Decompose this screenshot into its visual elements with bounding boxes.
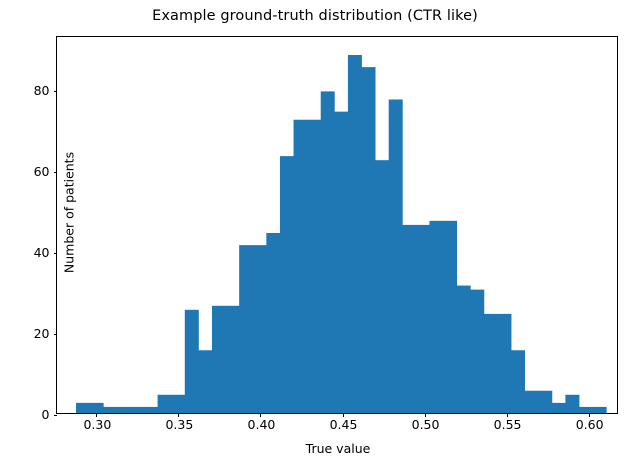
x-tick-label: 0.50 [412,417,440,432]
histogram-bar [579,407,607,413]
y-tick: 20 [54,334,58,335]
histogram-bar [348,55,362,413]
y-axis-label: Number of patients [62,23,77,403]
plot-area [57,37,617,413]
histogram-bar [198,350,212,413]
histogram-bar [334,112,348,413]
histogram-bar [239,245,267,413]
y-tick-label: 40 [34,245,50,260]
x-tick: 0.40 [260,413,261,417]
histogram-bar [389,99,403,413]
histogram-bar [511,350,525,413]
histogram-bar [525,391,553,413]
histogram-bar [484,314,512,413]
histogram-bar [402,225,430,413]
y-tick: 60 [54,172,58,173]
x-tick-label: 0.55 [494,417,522,432]
x-tick-label: 0.45 [330,417,358,432]
y-tick-label: 60 [34,164,50,179]
x-tick: 0.50 [425,413,426,417]
figure-canvas: Example ground-truth distribution (CTR l… [0,0,630,470]
histogram-bar [266,233,280,413]
histogram-bar [552,403,566,413]
histogram-bar [280,156,294,413]
histogram-bar [294,120,322,413]
histogram-bar [429,221,457,413]
page-title: Example ground-truth distribution (CTR l… [0,8,630,24]
histogram-bar [457,286,471,413]
y-tick: 80 [54,91,58,92]
x-tick-label: 0.35 [165,417,193,432]
histogram-bar [212,306,240,413]
x-tick: 0.60 [589,413,590,417]
histogram-bar [76,403,104,413]
x-tick: 0.30 [96,413,97,417]
histogram-bar [158,395,186,413]
plot-axes: 020406080 0.300.350.400.450.500.550.60 N… [56,36,618,414]
histogram-bar [565,395,579,413]
y-tick-label: 80 [34,83,50,98]
x-axis-label: True value [57,441,619,456]
y-tick-label: 20 [34,326,50,341]
histogram-bar [375,160,389,413]
histogram-bar [362,67,376,413]
x-tick: 0.45 [343,413,344,417]
histogram-bar [470,290,484,413]
x-tick: 0.35 [178,413,179,417]
histogram-bars [57,37,617,413]
x-tick: 0.55 [507,413,508,417]
histogram-bar [321,91,335,413]
histogram-bar [103,407,131,413]
y-tick-label: 0 [42,407,50,422]
x-tick-label: 0.40 [248,417,276,432]
x-tick-label: 0.60 [576,417,604,432]
histogram-bar [130,407,158,413]
y-tick: 40 [54,253,58,254]
x-tick-label: 0.30 [83,417,111,432]
y-tick: 0 [54,415,58,416]
histogram-bar [185,310,199,413]
